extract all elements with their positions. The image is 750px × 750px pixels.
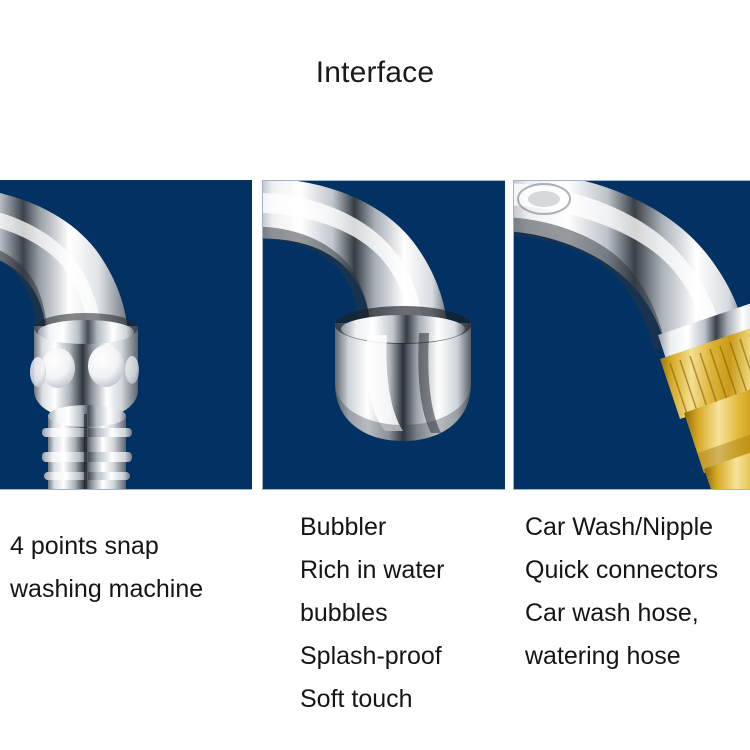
caption-line: Quick connectors [525, 549, 718, 592]
caption-line: Splash-proof [300, 635, 445, 678]
caption-line: bubbles [300, 592, 445, 635]
caption-line: Car wash hose, [525, 592, 718, 635]
product-panel-bubbler[interactable] [262, 180, 505, 490]
caption-line: Rich in water [300, 549, 445, 592]
page-title: Interface [0, 56, 750, 89]
caption-line: Car Wash/Nipple [525, 506, 718, 549]
caption-line: 4 points snap [10, 525, 203, 568]
product-panel-strip [0, 180, 750, 490]
chrome-faucet-brass-connector-icon [513, 180, 750, 490]
product-panel-car-wash[interactable] [513, 180, 750, 490]
caption-snap: 4 points snap washing machine [10, 525, 203, 611]
caption-area: 4 points snap washing machine Bubbler Ri… [0, 506, 750, 750]
chrome-faucet-snap-icon [0, 180, 252, 490]
caption-car-wash: Car Wash/Nipple Quick connectors Car was… [525, 506, 718, 678]
caption-line: Bubbler [300, 506, 445, 549]
caption-line: Soft touch [300, 678, 445, 721]
caption-line: watering hose [525, 635, 718, 678]
product-panel-snap[interactable] [0, 180, 252, 490]
caption-line: washing machine [10, 568, 203, 611]
caption-bubbler: Bubbler Rich in water bubbles Splash-pro… [300, 506, 445, 721]
chrome-faucet-bubbler-icon [262, 180, 505, 490]
